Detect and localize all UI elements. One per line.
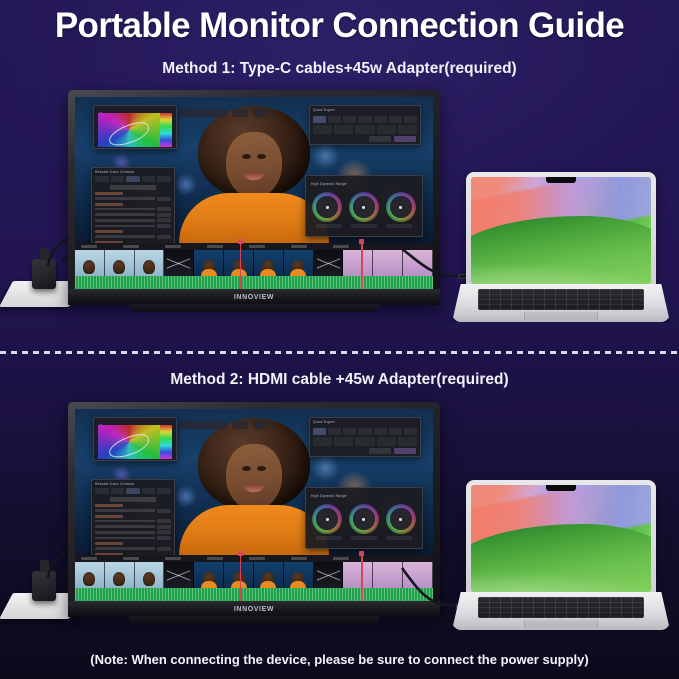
export-format-tabs[interactable] <box>310 425 420 436</box>
timeline-clip[interactable] <box>254 562 284 588</box>
wheel-value-gamma <box>351 536 377 540</box>
inspector-slider-row[interactable] <box>95 235 171 239</box>
inspector-tabs[interactable] <box>92 175 174 183</box>
vectorscope-trace <box>106 431 152 461</box>
color-wheel-values <box>308 222 420 230</box>
vectorscope-graph <box>98 113 160 147</box>
export-field-resolution[interactable] <box>313 125 332 134</box>
inspector-tab-5[interactable] <box>157 488 171 494</box>
inspector-open-button[interactable] <box>110 497 156 502</box>
media-pool-button[interactable] <box>179 109 227 117</box>
vectorscope-panel[interactable]: Scope <box>93 417 177 461</box>
color-gradient-strip <box>160 425 172 459</box>
subject-smile <box>244 484 264 492</box>
timeline-tick <box>81 557 97 560</box>
monitor-stand <box>129 304 379 312</box>
inspector-slider-row[interactable] <box>95 197 171 201</box>
effects-button[interactable] <box>232 109 248 117</box>
export-field-quality[interactable] <box>355 125 374 134</box>
export-field-quality[interactable] <box>355 437 374 446</box>
editor-top-toolbar[interactable] <box>179 107 313 118</box>
color-wheel-values <box>308 534 420 542</box>
wheel-value-gain <box>386 536 412 540</box>
export-tab-h264[interactable] <box>313 116 326 123</box>
timeline-ruler[interactable] <box>75 555 433 562</box>
inspector-slider-row[interactable] <box>95 547 171 551</box>
monitor-bottom-bezel: INNOVIEW <box>68 601 440 617</box>
export-dialog-buttons[interactable] <box>310 447 420 455</box>
inspector-section-header-1 <box>95 504 123 507</box>
connection-guide-page: Portable Monitor Connection Guide Method… <box>0 0 679 679</box>
color-wheels-title: High Dynamic Range <box>308 492 420 499</box>
timeline-tick <box>333 245 349 248</box>
section-divider <box>0 351 679 354</box>
effects-button[interactable] <box>232 421 248 429</box>
export-dialog-panel[interactable]: Quick Export <box>309 105 421 145</box>
subject-eye-left <box>242 466 251 471</box>
method-1-section: Scope Resolve Color Controls <box>0 80 679 350</box>
color-wheel-gain[interactable] <box>386 504 416 534</box>
subject-eye-left <box>242 154 251 159</box>
color-wheel-gamma[interactable] <box>349 192 379 222</box>
color-wheels-panel[interactable]: High Dynamic Range <box>305 487 423 549</box>
export-field-resolution[interactable] <box>313 437 332 446</box>
export-cancel-button[interactable] <box>369 136 391 142</box>
method-1-portable-monitor: Scope Resolve Color Controls <box>68 90 440 305</box>
export-tab-more[interactable] <box>404 116 417 123</box>
method-2-label: Method 2: HDMI cable +45w Adapter(requir… <box>0 371 679 389</box>
export-tab-prores[interactable] <box>343 428 356 435</box>
timeline-clip[interactable] <box>135 250 165 276</box>
export-tab-h265[interactable] <box>328 428 341 435</box>
inspector-panel[interactable]: Resolve Color Controls <box>91 167 175 251</box>
timeline-clip[interactable] <box>105 250 135 276</box>
inspector-tab-3[interactable] <box>126 176 140 182</box>
timeline-clip[interactable] <box>194 562 224 588</box>
color-wheel-lift[interactable] <box>312 504 342 534</box>
subject-smile <box>244 172 264 180</box>
timeline-playhead[interactable] <box>240 242 242 289</box>
timeline-clip[interactable] <box>194 250 224 276</box>
export-field-codec[interactable] <box>377 125 396 134</box>
timeline-tick <box>123 245 139 248</box>
monitor-brand-logo: INNOVIEW <box>234 606 274 613</box>
timeline-tick <box>81 245 97 248</box>
inspector-tabs[interactable] <box>92 487 174 495</box>
inspector-section-header-2 <box>95 515 123 518</box>
wheel-value-gamma <box>351 224 377 228</box>
subject-eye-right <box>257 466 266 471</box>
inspector-tab-4[interactable] <box>142 176 156 182</box>
inspector-slider-row[interactable] <box>95 218 171 222</box>
method-2-portable-monitor: Scope Resolve Color Controls <box>68 402 440 617</box>
inspector-slider-row[interactable] <box>95 530 171 534</box>
timeline-tick <box>207 245 223 248</box>
timeline-clip[interactable] <box>135 562 165 588</box>
inspector-tab-3[interactable] <box>126 488 140 494</box>
timeline-transition-clip[interactable] <box>164 250 194 276</box>
wallpaper-wave <box>471 524 651 592</box>
timeline-tick <box>165 245 181 248</box>
video-editor-app: Scope Resolve Color Controls <box>75 97 433 289</box>
export-tab-twitter[interactable] <box>389 116 402 123</box>
laptop-base <box>452 592 670 630</box>
timeline-ruler[interactable] <box>75 243 433 250</box>
editor-top-toolbar[interactable] <box>179 419 313 430</box>
color-wheel-gain[interactable] <box>386 192 416 222</box>
footer-note: (Note: When connecting the device, pleas… <box>0 652 679 667</box>
media-pool-button[interactable] <box>179 421 227 429</box>
monitor-body: Scope Resolve Color Controls <box>68 402 440 617</box>
inspector-open-button[interactable] <box>110 185 156 190</box>
timeline-clip-strip[interactable] <box>75 562 433 588</box>
export-dialog-panel[interactable]: Quick Export <box>309 417 421 457</box>
export-tab-prores[interactable] <box>343 116 356 123</box>
laptop-keyboard[interactable] <box>478 597 644 618</box>
inspector-slider-row[interactable] <box>95 536 171 540</box>
timeline-transition-clip[interactable] <box>314 250 344 276</box>
video-editor-app: Scope Resolve Color Controls <box>75 409 433 601</box>
export-field-codec[interactable] <box>377 437 396 446</box>
inspector-title: Resolve Color Controls <box>92 168 174 175</box>
inspector-section-header-2 <box>95 203 123 206</box>
inspector-title: Resolve Color Controls <box>92 480 174 487</box>
export-dialog-buttons[interactable] <box>310 135 420 143</box>
export-confirm-button[interactable] <box>394 448 416 454</box>
timeline-audio-track[interactable] <box>75 276 433 289</box>
vectorscope-graph <box>98 425 160 459</box>
timeline-clip[interactable] <box>284 250 314 276</box>
timeline-clip[interactable] <box>75 250 105 276</box>
timeline-transition-clip[interactable] <box>314 562 344 588</box>
inspector-tab-1[interactable] <box>95 488 109 494</box>
export-tab-youtube[interactable] <box>358 116 371 123</box>
timeline-clip-strip[interactable] <box>75 250 433 276</box>
export-format-tabs[interactable] <box>310 113 420 124</box>
timeline-transition-clip[interactable] <box>164 562 194 588</box>
export-dialog-title: Quick Export <box>310 418 420 425</box>
method-2-macbook <box>452 480 670 630</box>
color-wheels-panel[interactable]: High Dynamic Range <box>305 175 423 237</box>
export-cancel-button[interactable] <box>369 448 391 454</box>
timeline-clip[interactable] <box>254 250 284 276</box>
color-gradient-strip <box>160 113 172 147</box>
color-wheel-row[interactable] <box>308 499 420 534</box>
export-confirm-button[interactable] <box>394 136 416 142</box>
laptop-keyboard[interactable] <box>478 289 644 310</box>
inspector-section-header-1 <box>95 192 123 195</box>
laptop-lid <box>466 172 656 290</box>
export-tab-vimeo[interactable] <box>374 116 387 123</box>
wheel-value-lift <box>316 224 342 228</box>
export-fields[interactable] <box>310 436 420 447</box>
laptop-notch <box>546 485 576 491</box>
vectorscope-panel[interactable]: Scope <box>93 105 177 149</box>
export-fields[interactable] <box>310 124 420 135</box>
timeline-tick <box>123 557 139 560</box>
monitor-bottom-bezel: INNOVIEW <box>68 289 440 305</box>
export-field-framerate[interactable] <box>334 437 353 446</box>
timeline-tick <box>249 245 265 248</box>
export-field-audio[interactable] <box>398 125 417 134</box>
method-2-section: Scope Resolve Color Controls <box>0 392 679 662</box>
inspector-slider-row[interactable] <box>95 213 171 217</box>
inspector-slider-row[interactable] <box>95 519 171 523</box>
zoom-button[interactable] <box>253 421 267 429</box>
laptop-screen <box>471 177 651 284</box>
editor-timeline[interactable] <box>75 555 433 601</box>
laptop-lid <box>466 480 656 598</box>
laptop-trackpad[interactable] <box>524 620 598 628</box>
laptop-notch <box>546 177 576 183</box>
inspector-tab-1[interactable] <box>95 176 109 182</box>
wallpaper-wave <box>471 216 651 284</box>
export-tab-twitter[interactable] <box>389 428 402 435</box>
inspector-tab-4[interactable] <box>142 488 156 494</box>
export-tab-youtube[interactable] <box>358 428 371 435</box>
inspector-tab-5[interactable] <box>157 176 171 182</box>
page-title: Portable Monitor Connection Guide <box>0 6 679 46</box>
inspector-slider-row[interactable] <box>95 509 171 513</box>
zoom-button[interactable] <box>253 109 267 117</box>
subject-eye-right <box>257 154 266 159</box>
timeline-clip[interactable] <box>75 562 105 588</box>
method-1-macbook <box>452 172 670 322</box>
laptop-screen <box>471 485 651 592</box>
color-wheels-title: High Dynamic Range <box>308 180 420 187</box>
color-wheel-lift[interactable] <box>312 192 342 222</box>
timeline-tick <box>207 557 223 560</box>
timeline-tick <box>165 557 181 560</box>
wheel-value-gain <box>386 224 412 228</box>
inspector-slider-row[interactable] <box>95 207 171 211</box>
subject-face <box>226 444 282 510</box>
timeline-tick <box>291 245 307 248</box>
export-field-framerate[interactable] <box>334 125 353 134</box>
vectorscope-trace <box>106 119 152 149</box>
laptop-base <box>452 284 670 322</box>
timeline-tick <box>249 557 265 560</box>
monitor-brand-logo: INNOVIEW <box>234 294 274 301</box>
timeline-marker[interactable] <box>361 554 363 601</box>
export-tab-more[interactable] <box>404 428 417 435</box>
monitor-screen: Scope Resolve Color Controls <box>75 97 433 289</box>
monitor-stand <box>129 616 379 624</box>
export-tab-h265[interactable] <box>328 116 341 123</box>
inspector-tab-2[interactable] <box>111 488 125 494</box>
export-field-audio[interactable] <box>398 437 417 446</box>
timeline-tick <box>291 557 307 560</box>
inspector-tab-2[interactable] <box>111 176 125 182</box>
timeline-clip[interactable] <box>343 562 373 588</box>
subject-face <box>226 132 282 198</box>
timeline-audio-track[interactable] <box>75 588 433 601</box>
inspector-slider-row[interactable] <box>95 224 171 228</box>
timeline-marker[interactable] <box>361 242 363 289</box>
color-wheel-gamma[interactable] <box>349 504 379 534</box>
inspector-slider-row[interactable] <box>95 525 171 529</box>
timeline-playhead[interactable] <box>240 554 242 601</box>
timeline-clip[interactable] <box>284 562 314 588</box>
method-1-label: Method 1: Type-C cables+45w Adapter(requ… <box>0 60 679 78</box>
export-dialog-title: Quick Export <box>310 106 420 113</box>
color-wheel-row[interactable] <box>308 187 420 222</box>
monitor-screen: Scope Resolve Color Controls <box>75 409 433 601</box>
wheel-value-lift <box>316 536 342 540</box>
export-tab-h264[interactable] <box>313 428 326 435</box>
monitor-body: Scope Resolve Color Controls <box>68 90 440 305</box>
laptop-trackpad[interactable] <box>524 312 598 320</box>
timeline-tick <box>333 557 349 560</box>
inspector-panel[interactable]: Resolve Color Controls <box>91 479 175 563</box>
inspector-section-header-3 <box>95 542 123 545</box>
inspector-section-header-3 <box>95 230 123 233</box>
timeline-clip[interactable] <box>343 250 373 276</box>
export-tab-vimeo[interactable] <box>374 428 387 435</box>
editor-timeline[interactable] <box>75 243 433 289</box>
timeline-clip[interactable] <box>105 562 135 588</box>
